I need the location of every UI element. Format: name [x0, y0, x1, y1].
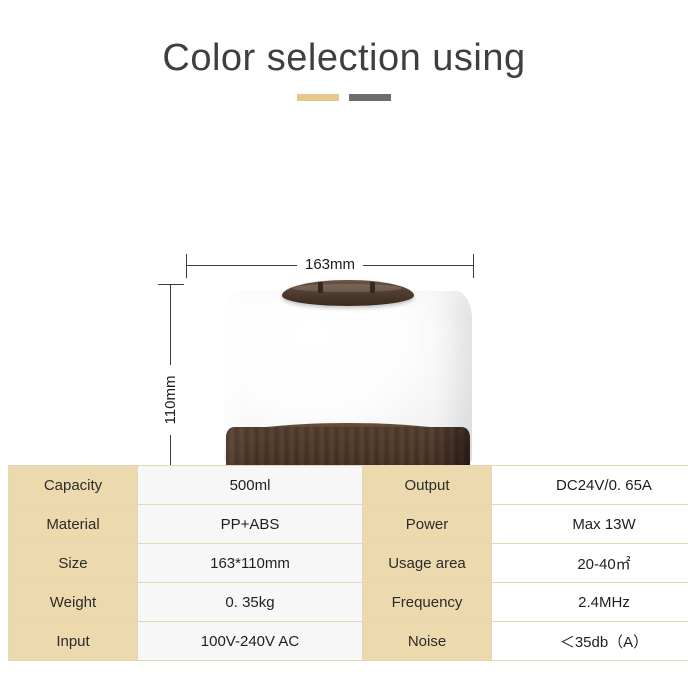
spec-value-output: DC24V/0. 65A [492, 466, 688, 505]
spec-key-input: Input [9, 622, 138, 661]
title-divider [0, 94, 688, 101]
height-dimension-top-tick [158, 284, 184, 285]
spec-key-capacity: Capacity [9, 466, 138, 505]
spec-value-weight: 0. 35kg [138, 583, 363, 622]
table-row: Input 100V-240V AC Noise ＜35db（A） [9, 622, 688, 661]
spec-key-usage-area: Usage area [363, 544, 492, 583]
spec-key-frequency: Frequency [363, 583, 492, 622]
spec-value-capacity: 500ml [138, 466, 363, 505]
width-dimension: 163mm [186, 254, 474, 278]
divider-tan-bar [297, 94, 339, 101]
spec-value-power: Max 13W [492, 505, 688, 544]
diffuser-vent-right-icon [370, 282, 375, 293]
spec-value-noise: ＜35db（A） [492, 622, 688, 661]
table-row: Weight 0. 35kg Frequency 2.4MHz [9, 583, 688, 622]
width-dimension-label: 163mm [297, 254, 363, 276]
spec-value-material: PP+ABS [138, 505, 363, 544]
page-title: Color selection using [0, 38, 688, 80]
page-header: Color selection using [0, 0, 688, 101]
height-dimension-label: 110mm [160, 365, 182, 435]
width-dimension-right-tick [473, 254, 474, 278]
spec-value-usage-area: 20-40㎡ [492, 544, 688, 583]
spec-key-weight: Weight [9, 583, 138, 622]
diffuser-top-cap [282, 280, 414, 306]
table-row: Size 163*110mm Usage area 20-40㎡ [9, 544, 688, 583]
spec-key-output: Output [363, 466, 492, 505]
diffuser-vent-left-icon [318, 282, 323, 293]
table-row: Capacity 500ml Output DC24V/0. 65A [9, 466, 688, 505]
width-dimension-left-tick [186, 254, 187, 278]
spec-value-frequency: 2.4MHz [492, 583, 688, 622]
spec-key-size: Size [9, 544, 138, 583]
specification-table-body: Capacity 500ml Output DC24V/0. 65A Mater… [9, 466, 688, 661]
spec-value-input: 100V-240V AC [138, 622, 363, 661]
spec-key-noise: Noise [363, 622, 492, 661]
spec-key-material: Material [9, 505, 138, 544]
spec-key-power: Power [363, 505, 492, 544]
product-diagram: 163mm 110mm [0, 109, 688, 419]
table-row: Material PP+ABS Power Max 13W [9, 505, 688, 544]
divider-gray-bar [349, 94, 391, 101]
specification-table: Capacity 500ml Output DC24V/0. 65A Mater… [8, 465, 688, 661]
spec-value-size: 163*110mm [138, 544, 363, 583]
